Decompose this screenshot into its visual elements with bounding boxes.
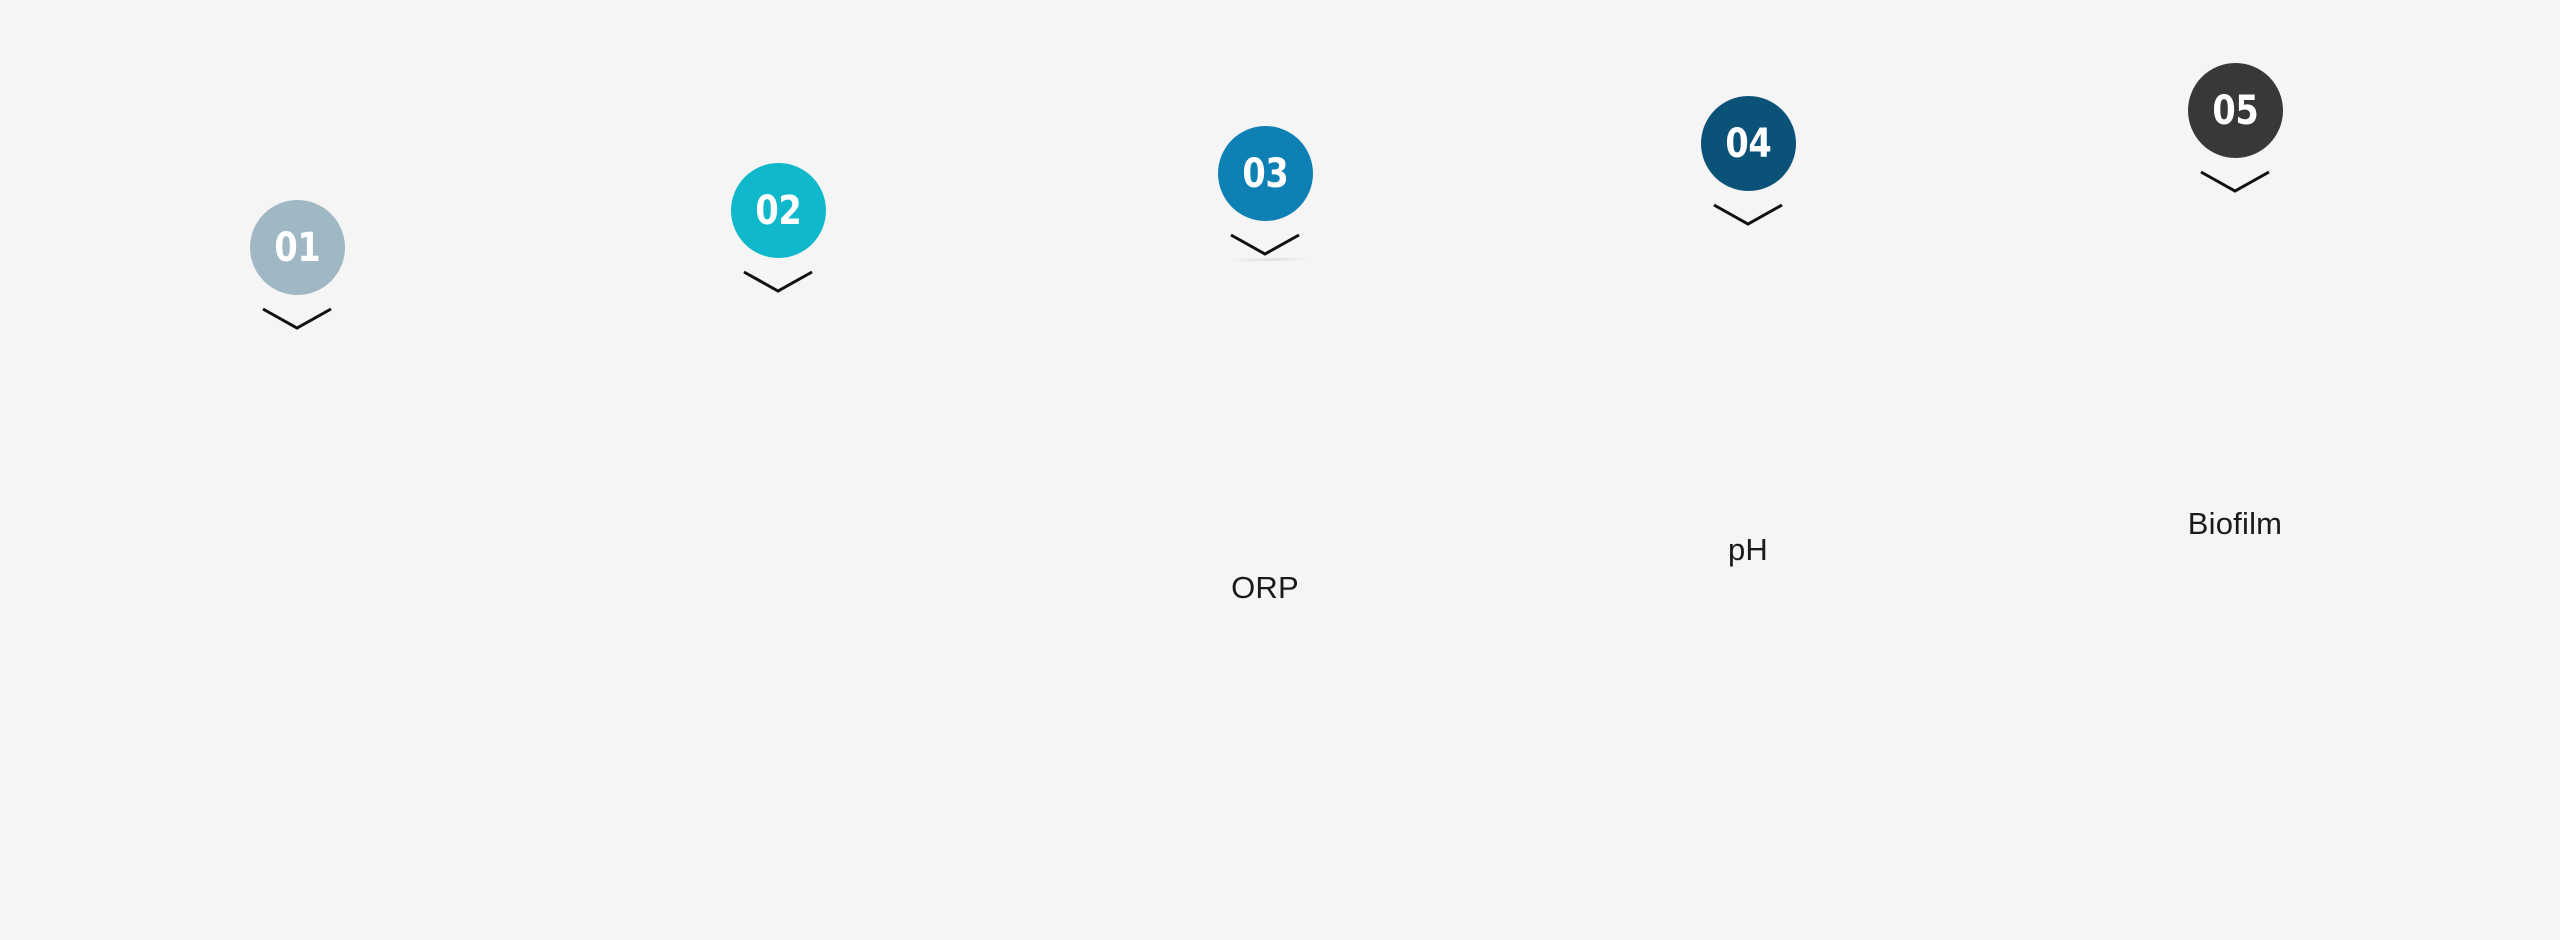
step-marker-label-04: pH bbox=[1568, 531, 1928, 568]
step-marker-01[interactable]: 01 bbox=[217, 200, 377, 331]
chevron-down-icon bbox=[261, 307, 333, 331]
step-badge-number: 04 bbox=[1725, 124, 1771, 164]
step-badge-circle-04[interactable]: 04 bbox=[1701, 96, 1796, 191]
chevron-down-icon bbox=[1229, 233, 1301, 257]
step-marker-03[interactable]: 03 bbox=[1185, 126, 1345, 257]
step-marker-label-03: ORP bbox=[1085, 569, 1445, 606]
marker-canvas: 010203ORP04pH05Biofilm bbox=[0, 0, 2560, 940]
step-badge-circle-02[interactable]: 02 bbox=[731, 163, 826, 258]
step-badge-number: 03 bbox=[1242, 154, 1288, 194]
step-marker-04[interactable]: 04 bbox=[1668, 96, 1828, 227]
step-marker-05[interactable]: 05 bbox=[2155, 63, 2315, 194]
step-marker-label-05: Biofilm bbox=[2055, 505, 2415, 542]
step-badge-number: 05 bbox=[2212, 91, 2258, 131]
step-badge-circle-01[interactable]: 01 bbox=[250, 200, 345, 295]
step-badge-circle-03[interactable]: 03 bbox=[1218, 126, 1313, 221]
step-badge-number: 01 bbox=[274, 228, 320, 268]
chevron-down-icon bbox=[1712, 203, 1784, 227]
faint-connector-line bbox=[1232, 257, 1310, 262]
chevron-down-icon bbox=[2199, 170, 2271, 194]
chevron-down-icon bbox=[742, 270, 814, 294]
step-badge-number: 02 bbox=[755, 191, 801, 231]
step-marker-02[interactable]: 02 bbox=[698, 163, 858, 294]
step-badge-circle-05[interactable]: 05 bbox=[2188, 63, 2283, 158]
